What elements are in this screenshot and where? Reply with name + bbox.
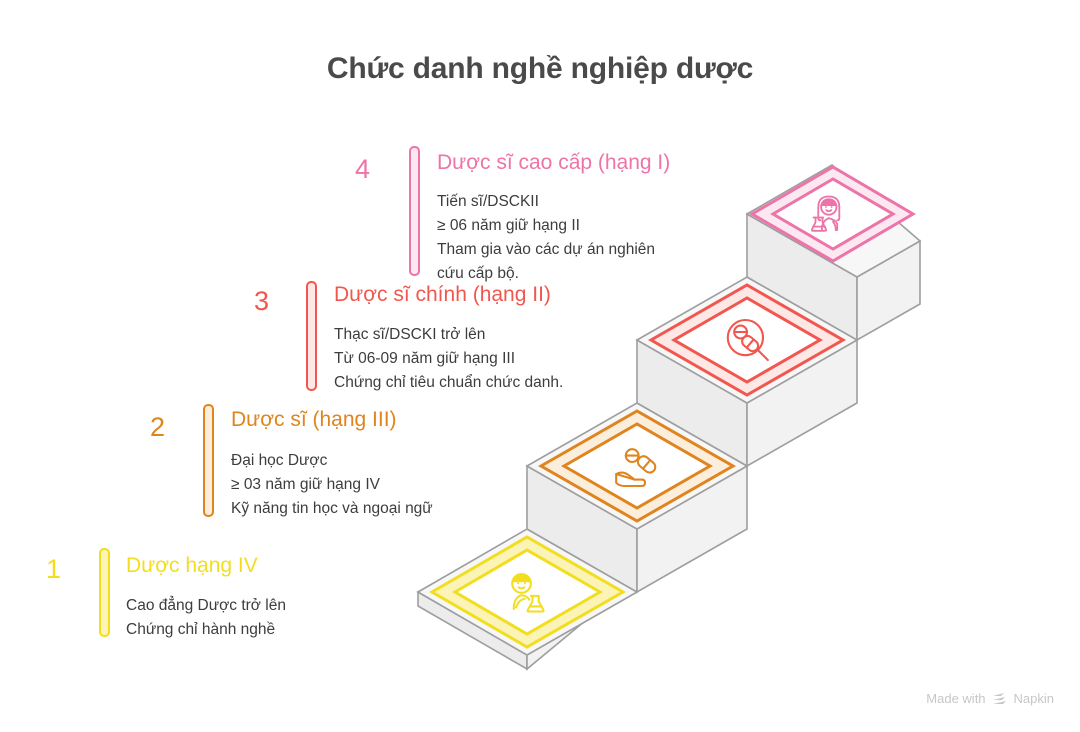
level-body-2-line-2: ≥ 03 năm giữ hạng IV [231,473,433,497]
level-body-3-line-2: Từ 06-09 năm giữ hạng III [334,347,563,371]
level-bar-2 [203,404,214,517]
level-body-2-line-1: Đại học Dược [231,449,433,473]
level-body-2: Đại học Dược ≥ 03 năm giữ hạng IV Kỹ năn… [231,449,433,521]
level-body-2-line-3: Kỹ năng tin học và ngoại ngữ [231,497,433,521]
watermark-made-with-label: Made with [926,691,985,706]
level-bar-4 [409,146,420,276]
napkin-watermark: Made with Napkin [926,691,1054,706]
level-body-3-line-3: Chứng chỉ tiêu chuẩn chức danh. [334,371,563,395]
level-body-3: Thạc sĩ/DSCKI trở lên Từ 06-09 năm giữ h… [334,323,563,395]
level-body-1-line-2: Chứng chỉ hành nghề [126,618,286,642]
level-bar-1 [99,548,110,637]
level-heading-1: Dược hạng IV [126,554,258,578]
level-bar-3 [306,281,317,391]
level-number-3: 3 [254,288,269,315]
level-body-4-line-3: Tham gia vào các dự án nghiên [437,238,655,262]
level-heading-3: Dược sĩ chính (hạng II) [334,283,551,307]
level-number-4: 4 [355,156,370,183]
infographic-canvas: Chức danh nghề nghiệp dược [0,0,1080,732]
level-body-1-line-1: Cao đẳng Dược trở lên [126,594,286,618]
level-heading-4: Dược sĩ cao cấp (hạng I) [437,151,670,175]
level-number-2: 2 [150,414,165,441]
level-heading-2: Dược sĩ (hạng III) [231,408,397,432]
napkin-logo-icon [992,692,1008,706]
level-body-4-line-2: ≥ 06 năm giữ hạng II [437,214,655,238]
level-body-1: Cao đẳng Dược trở lên Chứng chỉ hành ngh… [126,594,286,642]
level-number-1: 1 [46,556,61,583]
level-body-3-line-1: Thạc sĩ/DSCKI trở lên [334,323,563,347]
level-body-4: Tiến sĩ/DSCKII ≥ 06 năm giữ hạng II Tham… [437,190,655,286]
watermark-brand-label: Napkin [1014,691,1054,706]
level-body-4-line-1: Tiến sĩ/DSCKII [437,190,655,214]
